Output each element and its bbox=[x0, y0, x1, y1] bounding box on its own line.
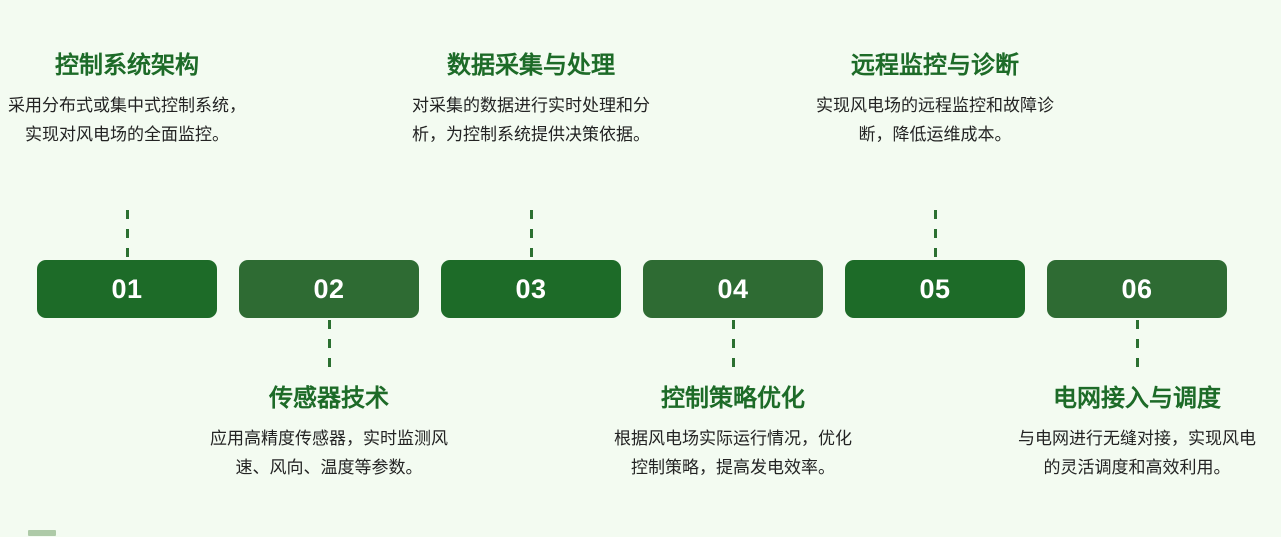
step-pill-row: 010203040506 bbox=[37, 260, 1227, 318]
step-title: 控制策略优化 bbox=[609, 385, 857, 414]
step-description: 实现风电场的远程监控和故障诊断，降低运维成本。 bbox=[811, 91, 1059, 149]
connector-stem-02 bbox=[328, 320, 331, 370]
progress-marker-bar bbox=[28, 530, 56, 536]
step-description: 与电网进行无缝对接，实现风电的灵活调度和高效利用。 bbox=[1013, 424, 1261, 482]
step-title: 电网接入与调度 bbox=[1013, 385, 1261, 414]
step-pill-02[interactable]: 02 bbox=[239, 260, 419, 318]
step-card-04: 控制策略优化根据风电场实际运行情况，优化控制策略，提高发电效率。 bbox=[609, 385, 857, 482]
step-pill-05[interactable]: 05 bbox=[845, 260, 1025, 318]
step-card-06: 电网接入与调度与电网进行无缝对接，实现风电的灵活调度和高效利用。 bbox=[1013, 385, 1261, 482]
step-number-label: 03 bbox=[515, 276, 546, 303]
step-card-03: 数据采集与处理对采集的数据进行实时处理和分析，为控制系统提供决策依据。 bbox=[407, 52, 655, 149]
step-card-05: 远程监控与诊断实现风电场的远程监控和故障诊断，降低运维成本。 bbox=[811, 52, 1059, 149]
step-pill-04[interactable]: 04 bbox=[643, 260, 823, 318]
step-description: 根据风电场实际运行情况，优化控制策略，提高发电效率。 bbox=[609, 424, 857, 482]
connector-stem-04 bbox=[732, 320, 735, 370]
step-description: 应用高精度传感器，实时监测风速、风向、温度等参数。 bbox=[205, 424, 453, 482]
step-title: 数据采集与处理 bbox=[407, 52, 655, 81]
step-pill-06[interactable]: 06 bbox=[1047, 260, 1227, 318]
step-description: 对采集的数据进行实时处理和分析，为控制系统提供决策依据。 bbox=[407, 91, 655, 149]
connector-stem-05 bbox=[934, 210, 937, 260]
step-card-01: 控制系统架构采用分布式或集中式控制系统，实现对风电场的全面监控。 bbox=[3, 52, 251, 149]
connector-stem-03 bbox=[530, 210, 533, 260]
step-title: 控制系统架构 bbox=[3, 52, 251, 81]
step-number-label: 06 bbox=[1121, 276, 1152, 303]
step-description: 采用分布式或集中式控制系统，实现对风电场的全面监控。 bbox=[3, 91, 251, 149]
step-number-label: 02 bbox=[313, 276, 344, 303]
connector-stem-01 bbox=[126, 210, 129, 260]
step-number-label: 04 bbox=[717, 276, 748, 303]
step-pill-01[interactable]: 01 bbox=[37, 260, 217, 318]
timeline-infographic: 控制系统架构采用分布式或集中式控制系统，实现对风电场的全面监控。传感器技术应用高… bbox=[0, 0, 1281, 537]
step-title: 传感器技术 bbox=[205, 385, 453, 414]
step-number-label: 05 bbox=[919, 276, 950, 303]
connector-stem-06 bbox=[1136, 320, 1139, 370]
step-card-02: 传感器技术应用高精度传感器，实时监测风速、风向、温度等参数。 bbox=[205, 385, 453, 482]
step-number-label: 01 bbox=[111, 276, 142, 303]
step-title: 远程监控与诊断 bbox=[811, 52, 1059, 81]
step-pill-03[interactable]: 03 bbox=[441, 260, 621, 318]
